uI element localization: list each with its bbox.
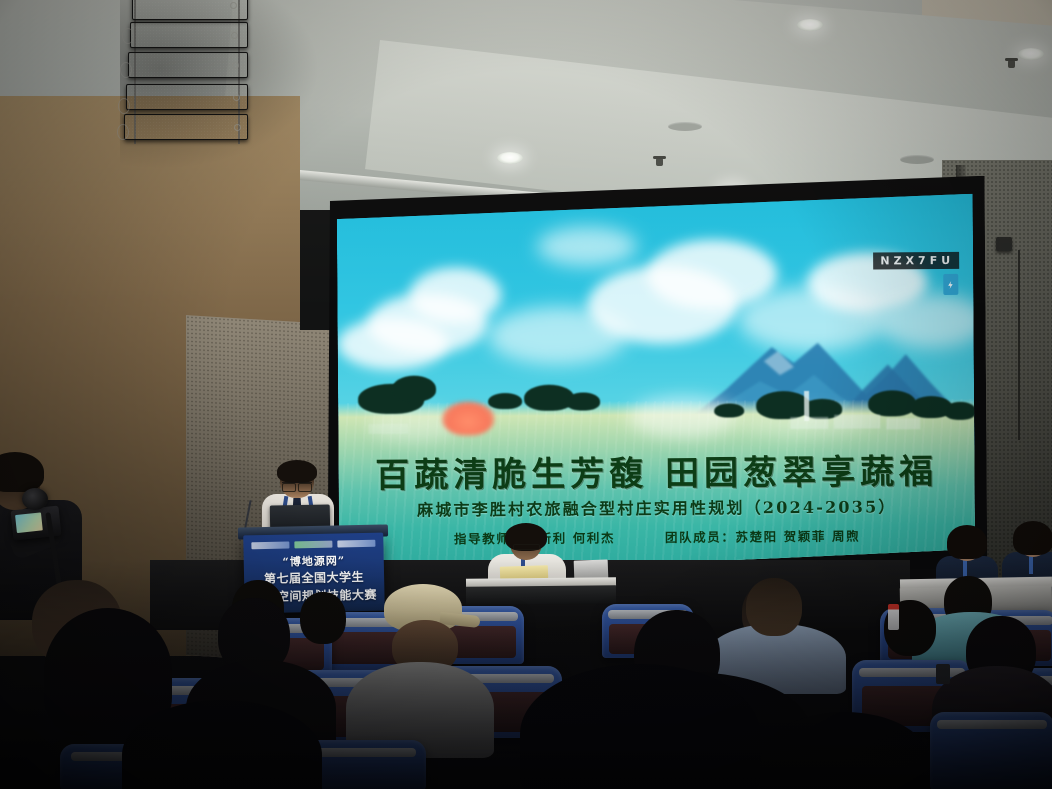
village-building (368, 424, 408, 434)
ceiling-vent-icon (668, 122, 702, 131)
speaker-rigging-ring-icon (122, 28, 134, 44)
speaker-rigging-eyelet-icon (232, 62, 239, 69)
smartphone[interactable] (936, 664, 950, 684)
tree-clump (868, 390, 916, 416)
podium-sponsor-logos (251, 539, 375, 551)
speaker-rigging-eyelet-icon (231, 32, 238, 39)
glasses-icon (282, 482, 312, 489)
operator-hair (0, 452, 44, 492)
speaker-rigging-eyelet-icon (230, 2, 237, 9)
judge-lanyard (963, 558, 967, 578)
ceiling-downlight-icon (1018, 48, 1044, 60)
water-bottle[interactable] (888, 604, 899, 630)
slide-watermark-code: NZX7FU (873, 252, 959, 270)
tree-clump (488, 393, 522, 409)
slide-subtitle: 麻城市李胜村农旅融合型村庄实用性规划（2024-2035） (339, 493, 975, 521)
village-building (790, 417, 828, 429)
wall-speaker-mount-icon (996, 237, 1012, 251)
conference-hall-photo: 百蔬清脆生芳馥 田园葱翠享蔬福 麻城市李胜村农旅融合型村庄实用性规划（2024-… (0, 0, 1052, 789)
ceiling-sprinkler-icon (1008, 60, 1015, 68)
speaker-rigging-eyelet-icon (233, 94, 240, 101)
line-array-speaker-cluster (126, 0, 256, 146)
tree-clump (944, 402, 975, 420)
glasses-icon (513, 544, 540, 550)
slide-credits-team: 团队成员：苏楚阳 贺颖菲 周煦 (665, 529, 860, 545)
camera-screen (15, 512, 43, 533)
speaker-rigging-ring-icon (118, 98, 130, 114)
speaker-module (128, 52, 248, 78)
speaker-module (126, 84, 248, 110)
tree-clump (714, 403, 744, 417)
ceiling-downlight-icon (797, 19, 823, 31)
sponsor-logo (337, 540, 375, 548)
speaker-module (124, 114, 248, 140)
slide-title: 百蔬清脆生芳馥 田园葱翠享蔬福 (338, 444, 974, 497)
seat-frame-bar (937, 720, 1046, 729)
judge-hair (1013, 521, 1052, 555)
tree-clump (566, 392, 600, 410)
village-building (886, 418, 920, 429)
speaker-rigging-eyelet-icon (234, 124, 241, 131)
ceiling-downlight-icon (497, 152, 523, 164)
led-screen[interactable]: 百蔬清脆生芳馥 田园葱翠享蔬福 麻城市李胜村农旅融合型村庄实用性规划（2024-… (325, 176, 988, 596)
audience-head (746, 578, 802, 636)
presenter-hair (277, 460, 317, 483)
speaker-rigging-ring-icon (120, 62, 132, 78)
audience-head (300, 592, 346, 644)
lightning-badge-icon (943, 274, 958, 295)
speaker-rigging-ring-icon (117, 124, 129, 140)
ceiling-vent-icon (900, 155, 934, 164)
presentation-slide: 百蔬清脆生芳馥 田园葱翠享蔬福 麻城市李胜村农旅融合型村庄实用性规划（2024-… (337, 194, 976, 578)
sponsor-logo (251, 542, 289, 550)
village-building (834, 414, 880, 428)
ceiling-sprinkler-icon (656, 158, 663, 166)
stage-desk-front (466, 585, 616, 605)
judge-hair (947, 525, 987, 559)
wall-cable (1018, 250, 1020, 440)
camera-windscreen-mic-icon (22, 488, 48, 510)
sun-icon (442, 401, 494, 435)
tree-clump (392, 376, 436, 402)
judge-lanyard (1029, 554, 1033, 574)
sponsor-logo (294, 541, 332, 549)
auditorium-seat[interactable] (930, 712, 1052, 789)
pagoda-icon (804, 391, 809, 421)
